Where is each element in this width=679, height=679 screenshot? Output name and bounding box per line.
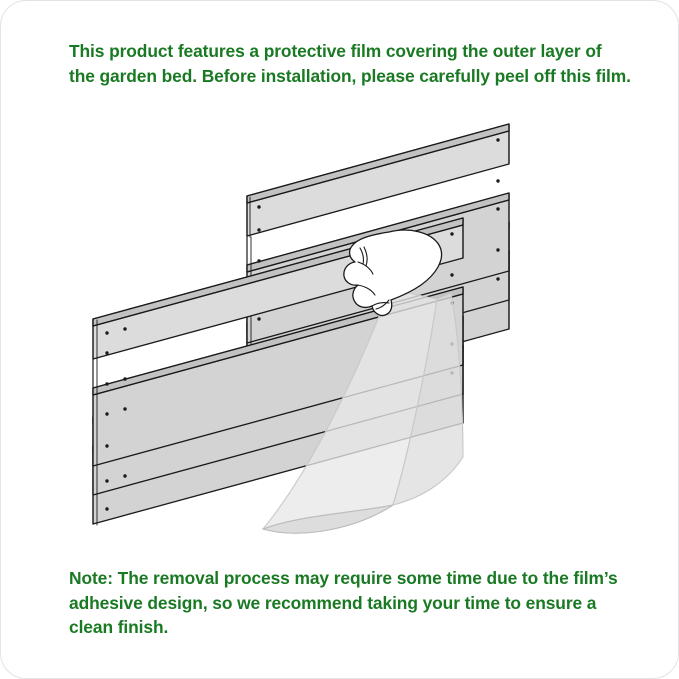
garden-bed-film-peel-illustration: .pf { fill:#d3d3d3; stroke:#1a1a1a; stro… — [1, 101, 679, 561]
bottom-note-text: Note: The removal process may require so… — [69, 566, 631, 640]
top-instruction-text: This product features a protective film … — [69, 39, 631, 88]
instruction-card: This product features a protective film … — [0, 0, 679, 679]
